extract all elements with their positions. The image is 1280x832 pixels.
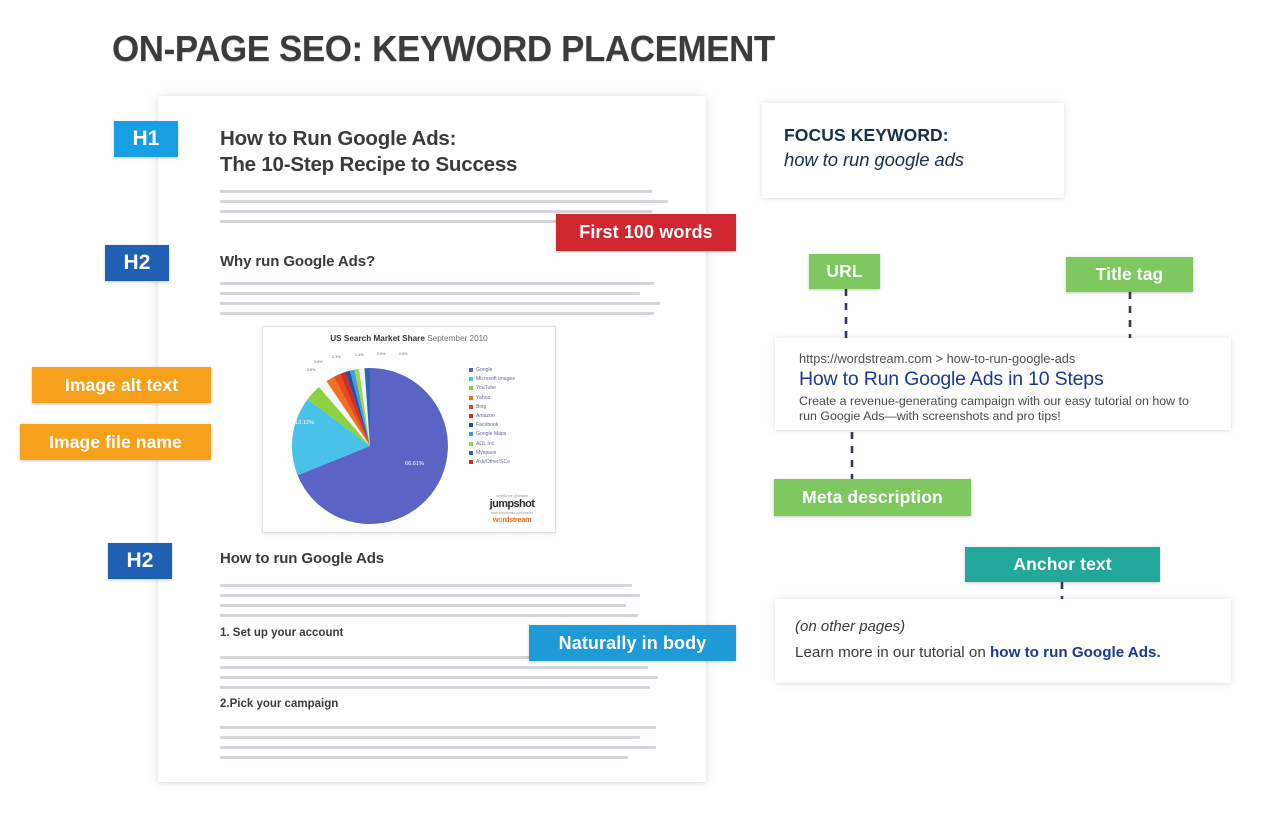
anchor-sentence-prefix: Learn more in our tutorial on	[795, 644, 990, 661]
pie-chart-card: US Search Market Share September 2010	[262, 326, 556, 533]
legend-label: Yahoo	[476, 395, 490, 401]
legend-label: Amazon	[476, 413, 495, 419]
pie-callout: 0.6%	[399, 352, 407, 356]
legend-item: Ask/Other/SCo	[469, 459, 555, 465]
chart-title: US Search Market Share September 2010	[263, 334, 555, 343]
text-rule	[220, 312, 654, 315]
callout-naturally-in-body[interactable]: Naturally in body	[529, 625, 736, 661]
serp-description: Create a revenue-generating campaign wit…	[799, 394, 1209, 424]
pie-slice-label-google: 66.61%	[405, 461, 424, 467]
legend-item: Yahoo	[469, 395, 555, 401]
anchor-text-card: (on other pages) Learn more in our tutor…	[775, 599, 1231, 683]
callout-image-file-name[interactable]: Image file name	[20, 424, 211, 460]
callout-url[interactable]: URL	[809, 254, 880, 289]
legend-item: Bing	[469, 404, 555, 410]
legend-label: AOL Inc.	[476, 441, 496, 447]
text-rule	[220, 614, 638, 617]
anchor-link-text[interactable]: how to run Google Ads.	[990, 644, 1161, 661]
serp-snippet-card: https://wordstream.com > how-to-run-goog…	[775, 338, 1231, 430]
text-rule	[220, 210, 652, 213]
serp-description-line1: Create a revenue-generating campaign wit…	[799, 394, 1132, 408]
legend-item: AOL Inc.	[469, 441, 555, 447]
anchor-note: (on other pages)	[795, 618, 905, 635]
pie-callout: 1.4%	[355, 353, 363, 357]
chart-source-brand2: wordstream	[469, 515, 555, 524]
legend-swatch-icon	[469, 432, 473, 436]
serp-title[interactable]: How to Run Google Ads in 10 Steps	[799, 368, 1104, 391]
text-rule	[220, 746, 656, 749]
legend-swatch-icon	[469, 442, 473, 446]
infographic-canvas: ON-PAGE SEO: KEYWORD PLACEMENT How to Ru…	[0, 0, 1280, 832]
chart-title-period: September 2010	[427, 334, 488, 343]
legend-label: Myspace	[476, 450, 496, 456]
document-h2-heading-2: How to run Google Ads	[220, 550, 384, 567]
text-rule	[220, 686, 650, 689]
text-rule	[220, 584, 632, 587]
document-h2-heading-1: Why run Google Ads?	[220, 253, 375, 270]
legend-item: Google	[469, 367, 555, 373]
page-title: ON-PAGE SEO: KEYWORD PLACEMENT	[112, 28, 775, 70]
text-rule	[220, 190, 652, 193]
legend-label: Ask/Other/SCo	[476, 459, 510, 465]
text-rule	[220, 666, 648, 669]
pie-callout: 3.4%	[314, 360, 322, 364]
text-rule	[220, 302, 660, 305]
badge-h2-first[interactable]: H2	[105, 245, 169, 281]
chart-title-bold: US Search Market Share	[330, 334, 425, 343]
legend-swatch-icon	[469, 396, 473, 400]
legend-item: Amazon	[469, 413, 555, 419]
legend-item: Microsoft Images	[469, 376, 555, 382]
chart-legend: GoogleMicrosoft ImagesYouTubeYahooBingAm…	[469, 367, 555, 468]
focus-keyword-label: FOCUS KEYWORD:	[784, 125, 949, 146]
callout-first-100-words[interactable]: First 100 words	[556, 214, 736, 251]
legend-swatch-icon	[469, 460, 473, 464]
document-h1-line1: How to Run Google Ads:	[220, 126, 517, 152]
badge-h2-second[interactable]: H2	[108, 543, 172, 579]
legend-item: Google Maps	[469, 431, 555, 437]
anchor-sentence: Learn more in our tutorial on how to run…	[795, 644, 1161, 661]
legend-label: Google	[476, 367, 492, 373]
pie-slice-label-second: 13.12%	[295, 420, 314, 426]
legend-label: Google Maps	[476, 431, 506, 437]
callout-title-tag[interactable]: Title tag	[1066, 257, 1193, 292]
document-h1-heading: How to Run Google Ads: The 10-Step Recip…	[220, 126, 517, 178]
document-step-2: 2.Pick your campaign	[220, 698, 338, 710]
callout-meta-description[interactable]: Meta description	[774, 479, 971, 516]
callout-anchor-text[interactable]: Anchor text	[965, 547, 1160, 582]
legend-item: YouTube	[469, 385, 555, 391]
legend-item: Facebook	[469, 422, 555, 428]
chart-source-brand: jumpshot	[469, 498, 555, 510]
legend-item: Myspace	[469, 450, 555, 456]
legend-label: YouTube	[476, 385, 496, 391]
pie-callout: 0.9%	[377, 352, 385, 356]
legend-swatch-icon	[469, 368, 473, 372]
text-rule	[220, 756, 628, 759]
text-rule	[220, 282, 654, 285]
legend-label: Microsoft Images	[476, 376, 515, 382]
callout-image-alt-text[interactable]: Image alt text	[32, 367, 211, 403]
focus-keyword-value: how to run google ads	[784, 149, 964, 171]
document-step-1: 1. Set up your account	[220, 627, 343, 639]
text-rule	[220, 292, 640, 295]
legend-swatch-icon	[469, 386, 473, 390]
text-rule	[220, 736, 640, 739]
text-rule	[220, 676, 658, 679]
pie-graphic: 66.61% 13.12% 3.8% 3.4% 2.3% 1.4% 0.9% 0…	[277, 351, 463, 526]
focus-keyword-card: FOCUS KEYWORD: how to run google ads	[762, 103, 1064, 198]
legend-swatch-icon	[469, 423, 473, 427]
serp-url[interactable]: https://wordstream.com > how-to-run-goog…	[799, 351, 1075, 366]
text-rule	[220, 604, 626, 607]
legend-swatch-icon	[469, 405, 473, 409]
legend-label: Bing	[476, 404, 486, 410]
legend-swatch-icon	[469, 377, 473, 381]
text-rule	[220, 726, 656, 729]
text-rule	[220, 200, 668, 203]
badge-h1[interactable]: H1	[114, 121, 178, 157]
legend-swatch-icon	[469, 451, 473, 455]
legend-label: Facebook	[476, 422, 498, 428]
pie-callout: 3.8%	[307, 368, 315, 372]
text-rule	[220, 594, 640, 597]
legend-swatch-icon	[469, 414, 473, 418]
document-h1-line2: The 10-Step Recipe to Success	[220, 152, 517, 178]
pie-callout: 2.3%	[332, 355, 340, 359]
chart-footer: comScore qSearch jumpshot www.wordstream…	[469, 494, 555, 524]
